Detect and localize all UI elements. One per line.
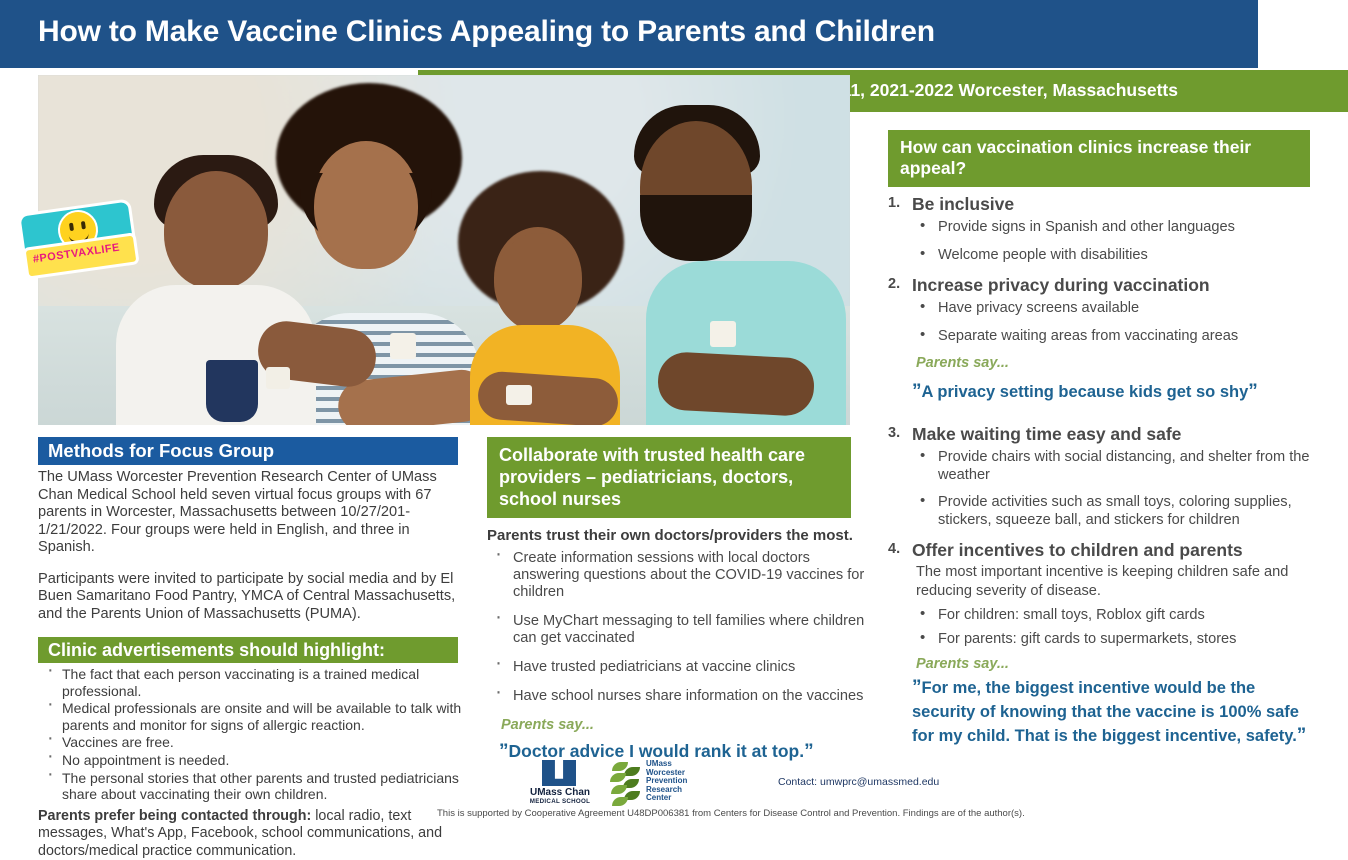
section-bullets: Provide chairs with social distancing, a…	[912, 449, 1318, 529]
umass-chan-name: UMass Chan	[528, 787, 592, 798]
parent-quote-text: For me, the biggest incentive would be t…	[912, 679, 1299, 745]
parent-quote: ”A privacy setting because kids get so s…	[912, 381, 1318, 403]
section-number: 4.	[888, 541, 900, 557]
collaborate-list: Create information sessions with local d…	[487, 550, 869, 705]
list-item: Use MyChart messaging to tell families w…	[487, 613, 869, 647]
list-item: Have privacy screens available	[912, 300, 1318, 318]
boy-bandage	[266, 367, 290, 389]
appeal-section-2: 2. Increase privacy during vaccination H…	[888, 274, 1318, 421]
ads-item-text: Medical professionals are onsite and wil…	[62, 700, 461, 733]
list-item: Create information sessions with local d…	[487, 550, 869, 601]
contact-preference-note: Parents prefer being contacted through: …	[38, 808, 468, 860]
collab-item-text: Create information sessions with local d…	[513, 550, 864, 600]
prc-logo-text: UMass Worcester Prevention Research Cent…	[646, 760, 687, 803]
list-item: The personal stories that other parents …	[38, 770, 462, 803]
quote-close-icon: ”	[804, 741, 814, 762]
ads-item-text: Vaccines are free.	[62, 734, 174, 750]
collab-item-text: Use MyChart messaging to tell families w…	[513, 613, 864, 646]
father-arm	[657, 351, 816, 417]
quote-close-icon: ”	[1297, 725, 1307, 746]
ads-list: The fact that each person vaccinating is…	[38, 666, 462, 803]
ads-heading: Clinic advertisements should highlight:	[38, 637, 458, 663]
logo-row: UMass Chan MEDICAL SCHOOL UMass Worceste…	[528, 760, 858, 806]
section-title: Make waiting time easy and safe	[912, 424, 1181, 444]
bullet-text: Provide signs in Spanish and other langu…	[938, 219, 1235, 235]
list-item: For parents: gift cards to supermarkets,…	[912, 631, 1318, 649]
umass-chan-subtitle: MEDICAL SCHOOL	[528, 798, 592, 805]
section-title: Offer incentives to children and parents	[912, 540, 1243, 560]
ads-item-text: The personal stories that other parents …	[62, 770, 459, 803]
appeal-section-3: 3. Make waiting time easy and safe Provi…	[888, 423, 1318, 529]
list-item: For children: small toys, Roblox gift ca…	[912, 607, 1318, 625]
list-item: Welcome people with disabilities	[912, 247, 1318, 265]
contact-label: Parents prefer being contacted through:	[38, 808, 311, 824]
bullet-text: For parents: gift cards to supermarkets,…	[938, 631, 1236, 647]
right-column: How can vaccination clinics increase the…	[888, 130, 1318, 750]
prc-line: Center	[646, 794, 687, 803]
spacer	[912, 403, 1318, 421]
section-bullets: Provide signs in Spanish and other langu…	[912, 219, 1318, 264]
list-item: Vaccines are free.	[38, 734, 462, 751]
list-item: Provide activities such as small toys, c…	[912, 494, 1318, 529]
bullet-text: Separate waiting areas from vaccinating …	[938, 328, 1238, 344]
ads-item-text: The fact that each person vaccinating is…	[62, 666, 419, 699]
ads-item-text: No appointment is needed.	[62, 752, 229, 768]
left-column: Methods for Focus Group The UMass Worces…	[38, 437, 458, 860]
collab-item-text: Have trusted pediatricians at vaccine cl…	[513, 659, 795, 675]
girl-face	[496, 233, 580, 331]
appeal-section-4: 4. Offer incentives to children and pare…	[888, 539, 1318, 748]
list-item: Have school nurses share information on …	[487, 688, 869, 705]
list-item: Provide signs in Spanish and other langu…	[912, 219, 1318, 237]
appeal-sections: 1. Be inclusive Provide signs in Spanish…	[888, 193, 1318, 748]
funding-footnote: This is supported by Cooperative Agreeme…	[437, 808, 1337, 819]
sticker-label: #POSTVAXLIFE	[32, 242, 121, 266]
list-item: Medical professionals are onsite and wil…	[38, 700, 462, 733]
list-item: Provide chairs with social distancing, a…	[912, 449, 1318, 484]
umass-chan-mark-icon	[542, 760, 576, 786]
father-bandage	[710, 321, 736, 347]
quote-close-icon: ”	[1248, 381, 1258, 402]
methods-paragraph-2: Participants were invited to participate…	[38, 571, 466, 624]
bullet-text: Have privacy screens available	[938, 300, 1139, 316]
leaves-icon	[610, 760, 644, 806]
parent-quote: ”For me, the biggest incentive would be …	[912, 676, 1318, 748]
list-item: Have trusted pediatricians at vaccine cl…	[487, 659, 869, 676]
section-title: Increase privacy during vaccination	[912, 275, 1210, 295]
parents-say-label: Parents say...	[916, 656, 1318, 672]
postvaxlife-sticker: #POSTVAXLIFE	[14, 196, 136, 282]
contact-email[interactable]: Contact: umwprc@umassmed.edu	[778, 776, 939, 788]
middle-column: Collaborate with trusted health care pro…	[487, 437, 851, 763]
boy-head	[164, 171, 268, 289]
list-item: Separate waiting areas from vaccinating …	[912, 328, 1318, 346]
section-number: 2.	[888, 276, 900, 292]
section-note: The most important incentive is keeping …	[916, 563, 1318, 601]
methods-heading: Methods for Focus Group	[38, 437, 458, 465]
appeal-section-1: 1. Be inclusive Provide signs in Spanish…	[888, 193, 1318, 264]
section-number: 3.	[888, 425, 900, 441]
section-title: Be inclusive	[912, 194, 1014, 214]
family-photo	[38, 75, 850, 425]
prevention-research-center-logo: UMass Worcester Prevention Research Cent…	[610, 760, 760, 806]
parents-say-label: Parents say...	[916, 355, 1318, 371]
section-bullets: For children: small toys, Roblox gift ca…	[912, 607, 1318, 648]
mother-bandage	[390, 333, 416, 359]
parents-say-label: Parents say...	[501, 717, 851, 733]
collab-item-text: Have school nurses share information on …	[513, 688, 863, 704]
quote-open-icon: ”	[912, 381, 922, 402]
list-item: The fact that each person vaccinating is…	[38, 666, 462, 699]
section-bullets: Have privacy screens available Separate …	[912, 300, 1318, 345]
girl-arm	[476, 370, 619, 425]
boy-shirt-pocket	[206, 360, 258, 422]
middle-lead-text: Parents trust their own doctors/provider…	[487, 527, 879, 544]
appeal-heading: How can vaccination clinics increase the…	[888, 130, 1310, 187]
bullet-text: Welcome people with disabilities	[938, 247, 1148, 263]
bullet-text: Provide activities such as small toys, c…	[938, 494, 1292, 528]
list-item: No appointment is needed.	[38, 752, 462, 769]
collaborate-heading: Collaborate with trusted health care pro…	[487, 437, 851, 518]
methods-paragraph-1: The UMass Worcester Prevention Research …	[38, 469, 466, 557]
umass-chan-logo: UMass Chan MEDICAL SCHOOL	[528, 760, 592, 806]
title-bar: How to Make Vaccine Clinics Appealing to…	[0, 0, 1258, 68]
quote-open-icon: ”	[499, 741, 509, 762]
parent-quote-text: Doctor advice I would rank it at top.	[509, 741, 805, 761]
bullet-text: For children: small toys, Roblox gift ca…	[938, 607, 1205, 623]
bullet-text: Provide chairs with social distancing, a…	[938, 449, 1310, 483]
page-title: How to Make Vaccine Clinics Appealing to…	[38, 15, 935, 49]
girl-bandage	[506, 385, 532, 405]
parent-quote-text: A privacy setting because kids get so sh…	[922, 383, 1249, 401]
quote-open-icon: ”	[912, 677, 922, 698]
section-number: 1.	[888, 195, 900, 211]
methods-body: The UMass Worcester Prevention Research …	[38, 469, 466, 623]
poster-root: How to Make Vaccine Clinics Appealing to…	[0, 0, 1348, 826]
mother-face	[314, 147, 418, 265]
